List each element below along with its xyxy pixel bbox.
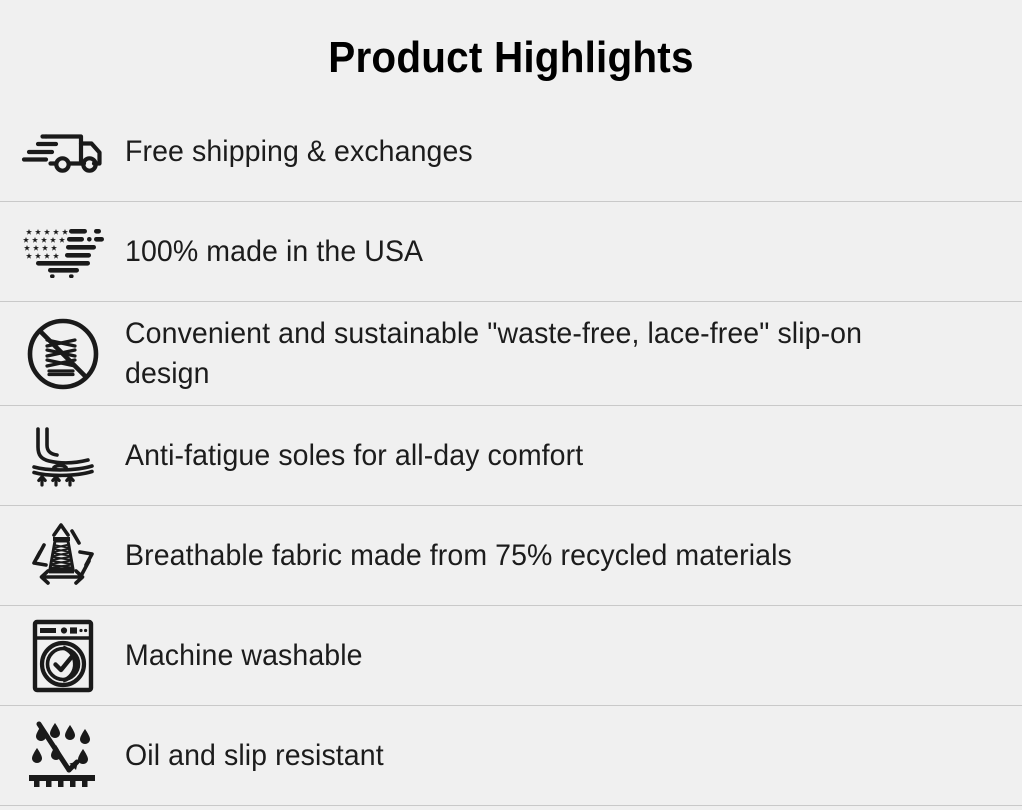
list-item: Convenient and sustainable "waste-free, … — [0, 302, 1022, 406]
water-repellent-icon — [0, 720, 125, 792]
recycled-thread-icon — [0, 521, 125, 591]
product-highlights-page: Product Highlights — [0, 0, 1022, 810]
feature-list: Free shipping & exchanges — [0, 102, 1022, 806]
list-item: 100% made in the USA — [0, 202, 1022, 302]
list-item-label: Breathable fabric made from 75% recycled… — [125, 536, 977, 576]
list-item-label: Convenient and sustainable "waste-free, … — [125, 314, 977, 393]
list-item-label: Machine washable — [125, 636, 977, 676]
no-laces-icon — [0, 316, 125, 392]
usa-flag-map-icon — [0, 226, 125, 278]
list-item: Breathable fabric made from 75% recycled… — [0, 506, 1022, 606]
list-item-label: 100% made in the USA — [125, 232, 977, 272]
list-item-label: Anti-fatigue soles for all-day comfort — [125, 436, 977, 476]
washing-machine-icon — [0, 619, 125, 693]
page-title: Product Highlights — [41, 0, 981, 102]
list-item-label: Free shipping & exchanges — [125, 132, 977, 172]
cushioned-foot-icon — [0, 425, 125, 487]
list-item-label: Oil and slip resistant — [125, 736, 977, 776]
list-item: Oil and slip resistant — [0, 706, 1022, 806]
list-item: Free shipping & exchanges — [0, 102, 1022, 202]
delivery-truck-icon — [0, 129, 125, 175]
list-item: Machine washable — [0, 606, 1022, 706]
list-item: Anti-fatigue soles for all-day comfort — [0, 406, 1022, 506]
